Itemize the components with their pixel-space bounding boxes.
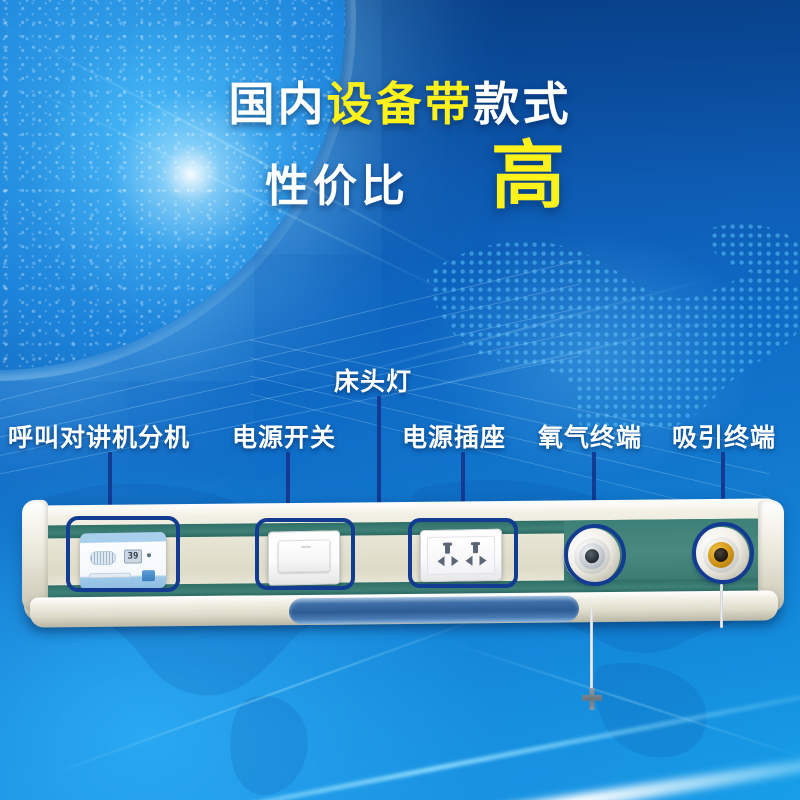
socket-pin-vertical-icon: [445, 543, 450, 554]
suction-terminal-device[interactable]: [693, 526, 749, 583]
socket-pin-angled-right-icon: [452, 556, 459, 566]
indicator-led-icon: [147, 553, 151, 557]
socket-faceplate: [427, 536, 495, 575]
socket-pin-angled-right-icon: [480, 555, 487, 565]
callout-label-bed-lamp: 床头灯: [334, 362, 412, 398]
suction-hanging-cord: [720, 584, 723, 628]
socket-outlet-right[interactable]: [464, 542, 488, 568]
socket-pin-vertical-icon: [473, 542, 478, 553]
callout-label-suction: 吸引终端: [672, 418, 776, 454]
power-socket-device[interactable]: [420, 529, 502, 583]
oxygen-hanging-cord: [590, 608, 593, 694]
rocker-switch-button[interactable]: [278, 539, 330, 572]
callout-label-intercom: 呼叫对讲机分机: [8, 418, 190, 454]
medical-bed-head-unit: 39: [24, 498, 782, 638]
socket-outlet-left[interactable]: [436, 542, 460, 568]
rocker-mark-icon: [301, 546, 311, 548]
callout-label-power-socket: 电源插座: [402, 418, 506, 454]
bed-lamp-light-strip[interactable]: [289, 596, 579, 625]
callout-labels: 呼叫对讲机分机 电源开关 床头灯 电源插座 氧气终端 吸引终端: [0, 0, 800, 800]
callout-label-power-switch: 电源开关: [232, 418, 336, 454]
speaker-grille-icon: [90, 551, 116, 565]
socket-pin-angled-left-icon: [466, 556, 473, 566]
intercom-call-button[interactable]: [142, 570, 155, 581]
intercom-display: 39: [124, 549, 142, 563]
oxygen-terminal-device[interactable]: [564, 528, 620, 585]
power-switch-device[interactable]: [268, 530, 340, 585]
socket-pin-angled-left-icon: [438, 556, 445, 566]
nurse-call-intercom-device[interactable]: 39: [80, 532, 166, 590]
intercom-slot: [89, 573, 131, 579]
callout-label-oxygen: 氧气终端: [538, 418, 642, 454]
panel-end-cap-left: [22, 500, 48, 612]
